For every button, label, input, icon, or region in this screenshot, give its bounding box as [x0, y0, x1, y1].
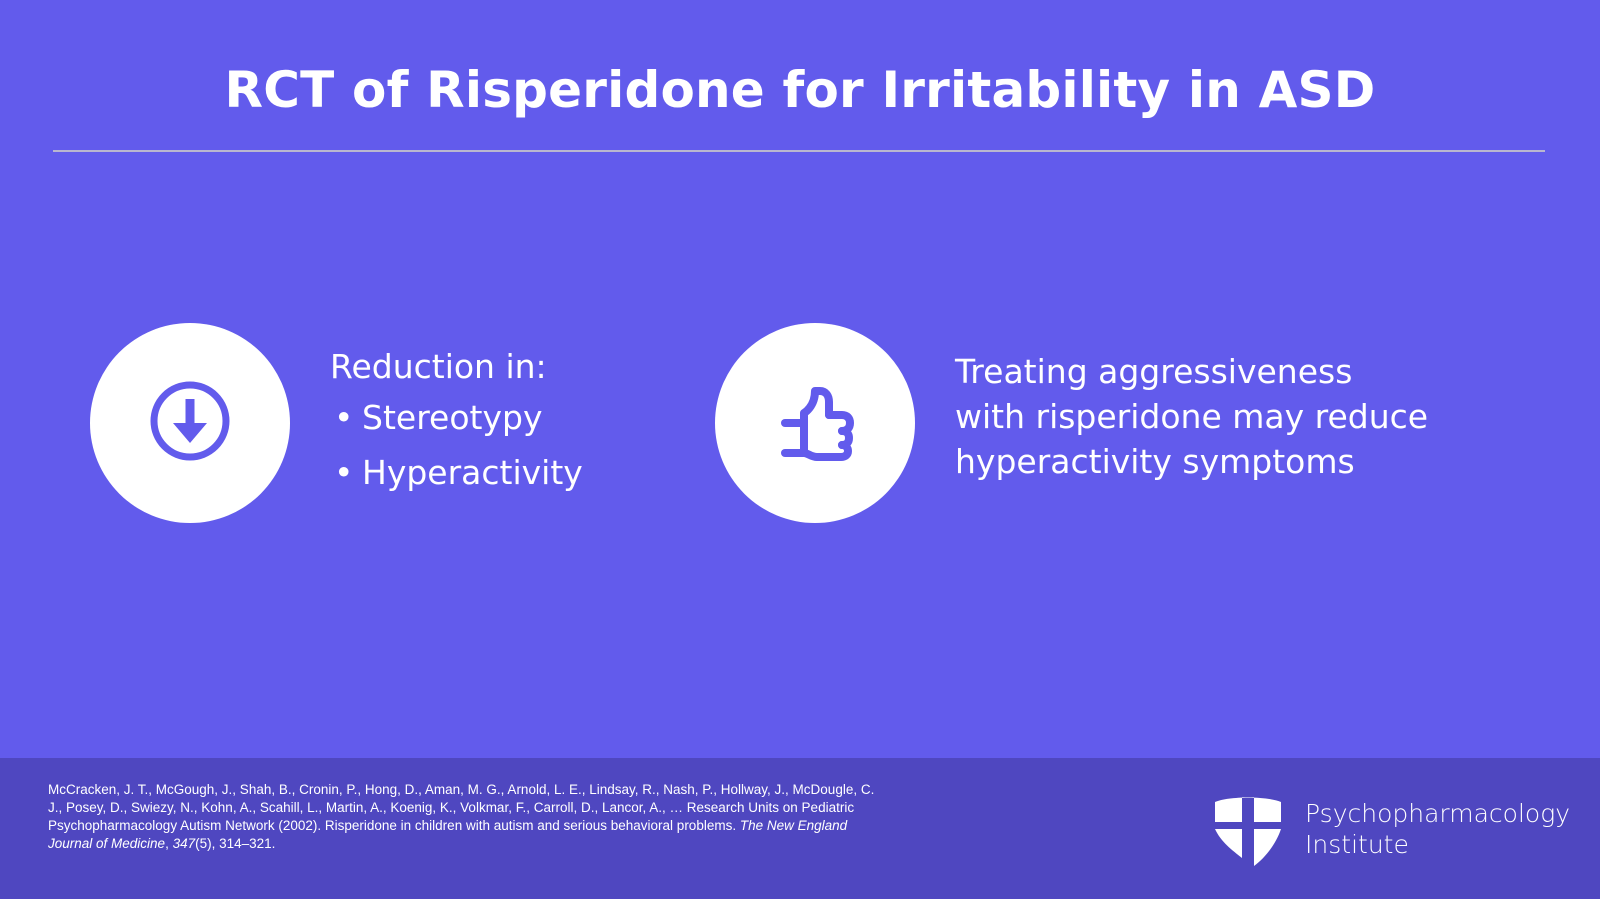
citation-pages: (5), 314–321.: [195, 836, 275, 851]
page-title: RCT of Risperidone for Irritability in A…: [53, 62, 1547, 120]
right-text: Treating aggressiveness with risperidone…: [955, 349, 1428, 485]
bullet-glyph: •: [334, 401, 353, 434]
thumbs-up-icon-badge: [715, 323, 915, 523]
list-item: •Stereotypy: [330, 401, 583, 434]
thumbs-up-icon: [763, 369, 867, 478]
down-arrow-icon-badge: [90, 323, 290, 523]
bullet-glyph: •: [334, 456, 353, 489]
title-divider: [53, 150, 1545, 152]
left-text-block: Reduction in: •Stereotypy •Hyperactivity: [330, 323, 583, 511]
brand-name: Psychopharmacology Institute: [1305, 798, 1570, 860]
right-content-column: Treating aggressiveness with risperidone…: [715, 323, 1428, 523]
citation-reference: McCracken, J. T., McGough, J., Shah, B.,…: [48, 781, 878, 853]
list-item-label: Hyperactivity: [362, 453, 583, 492]
left-heading: Reduction in:: [330, 350, 583, 383]
footer-bar: McCracken, J. T., McGough, J., Shah, B.,…: [0, 758, 1600, 899]
right-text-block: Treating aggressiveness with risperidone…: [955, 323, 1428, 485]
left-content-column: Reduction in: •Stereotypy •Hyperactivity: [90, 323, 583, 523]
title-block: RCT of Risperidone for Irritability in A…: [53, 62, 1547, 120]
down-arrow-in-circle-icon: [140, 371, 240, 476]
citation-volume: 347: [173, 836, 196, 851]
list-item: •Hyperactivity: [330, 456, 583, 489]
left-bullet-list: •Stereotypy •Hyperactivity: [330, 401, 583, 489]
citation-separator: ,: [165, 836, 173, 851]
slide-canvas: RCT of Risperidone for Irritability in A…: [0, 0, 1600, 899]
shield-logo-icon: [1207, 788, 1289, 870]
list-item-label: Stereotypy: [362, 398, 542, 437]
brand-logo: Psychopharmacology Institute: [1207, 788, 1570, 870]
